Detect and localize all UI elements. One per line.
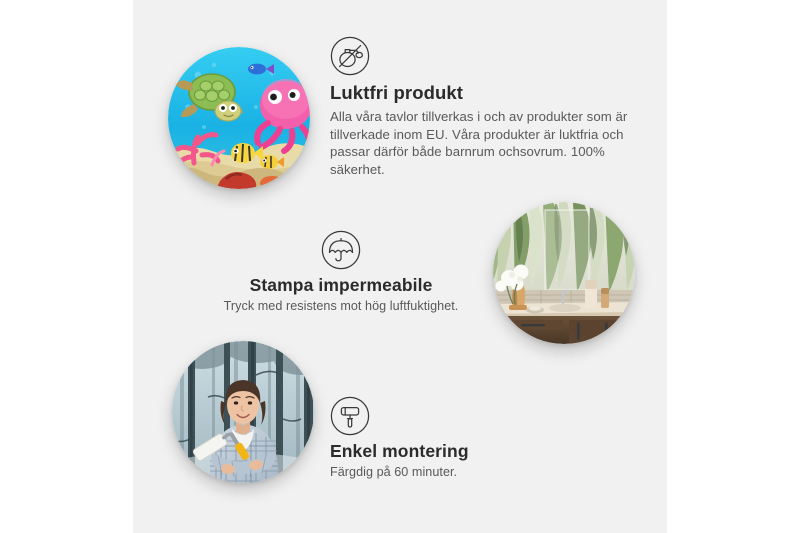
feature-easy-mounting: Enkel montering Färgdig på 60 minuter. [330, 396, 580, 480]
feature-waterproof-print: Stampa impermeabile Tryck med resistens … [196, 230, 486, 314]
paint-roller-icon-wrap [330, 396, 580, 436]
feature-title: Stampa impermeabile [196, 275, 486, 296]
paint-roller-icon [330, 396, 370, 436]
promo-banner: Luktfri produkt Alla våra tavlor tillver… [0, 0, 800, 533]
feature-body: Färgdig på 60 minuter. [330, 464, 580, 480]
no-fragrance-icon-wrap [330, 36, 632, 76]
no-fragrance-icon [330, 36, 370, 76]
decorator-forest-wallpaper-photo [172, 341, 314, 483]
feature-body: Tryck med resistens mot hög luftfuktighe… [196, 298, 486, 314]
underwater-kids-mural-photo [168, 47, 310, 189]
umbrella-icon [321, 230, 361, 270]
feature-title: Luktfri produkt [330, 82, 632, 104]
bathroom-botanical-wallpaper-photo [493, 202, 635, 344]
feature-body: Alla våra tavlor tillverkas i och av pro… [330, 108, 632, 178]
feature-odor-free: Luktfri produkt Alla våra tavlor tillver… [330, 36, 632, 178]
feature-title: Enkel montering [330, 441, 580, 462]
umbrella-icon-wrap [196, 230, 486, 270]
